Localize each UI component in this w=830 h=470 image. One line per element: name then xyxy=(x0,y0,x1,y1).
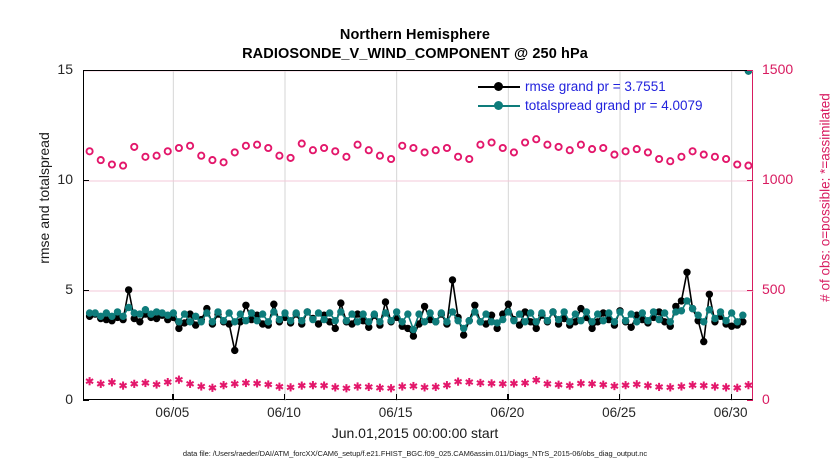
series-marker-totalspread xyxy=(248,310,255,317)
series-marker-totalspread xyxy=(399,318,406,325)
series-marker-totalspread xyxy=(360,311,367,318)
series-marker-totalspread xyxy=(617,309,624,316)
series-marker-totalspread xyxy=(254,317,261,324)
series-marker-totalspread xyxy=(427,310,434,317)
obs-possible-marker xyxy=(321,145,327,151)
legend-marker-rmse-icon xyxy=(478,80,520,94)
y-tick-label-right: 1500 xyxy=(762,61,822,77)
series-marker-totalspread xyxy=(605,310,612,317)
series-marker-rmse xyxy=(628,324,635,331)
obs-assimilated-marker xyxy=(265,380,272,388)
y-tick-mark-right xyxy=(747,70,753,71)
obs-possible-marker xyxy=(578,142,584,148)
series-marker-rmse xyxy=(315,321,322,328)
obs-possible-marker xyxy=(109,161,115,167)
obs-assimilated-marker xyxy=(734,384,741,392)
series-marker-totalspread xyxy=(293,310,300,317)
obs-assimilated-marker xyxy=(667,383,674,391)
y-axis-label-left: rmse and totalspread xyxy=(36,48,52,348)
obs-possible-marker xyxy=(533,136,539,142)
legend-item-totalspread[interactable]: totalspread grand pr = 4.0079 xyxy=(478,98,703,113)
series-marker-totalspread xyxy=(633,318,640,325)
series-marker-totalspread xyxy=(388,317,395,324)
series-marker-totalspread xyxy=(594,311,601,318)
obs-possible-marker xyxy=(745,163,751,169)
obs-possible-marker xyxy=(276,153,282,159)
legend-item-rmse[interactable]: rmse grand pr = 3.7551 xyxy=(478,79,703,94)
obs-possible-marker xyxy=(86,148,92,154)
obs-assimilated-marker xyxy=(455,378,462,386)
obs-assimilated-marker xyxy=(276,383,283,391)
obs-assimilated-marker xyxy=(153,380,160,388)
y-tick-mark-right xyxy=(747,400,753,401)
series-marker-totalspread xyxy=(265,318,272,325)
obs-assimilated-marker xyxy=(410,382,417,390)
obs-assimilated-marker xyxy=(365,383,372,391)
obs-possible-marker xyxy=(678,154,684,160)
obs-assimilated-marker xyxy=(611,382,618,390)
x-tick-mark xyxy=(619,394,620,400)
obs-possible-marker xyxy=(377,153,383,159)
series-marker-totalspread xyxy=(337,309,344,316)
series-marker-totalspread xyxy=(438,310,445,317)
obs-assimilated-marker xyxy=(544,380,551,388)
series-marker-totalspread xyxy=(639,310,646,317)
series-marker-totalspread xyxy=(544,317,551,324)
obs-possible-marker xyxy=(500,145,506,151)
obs-possible-marker xyxy=(511,149,517,155)
obs-possible-marker xyxy=(388,156,394,162)
y-tick-label-left: 0 xyxy=(3,391,73,407)
series-marker-totalspread xyxy=(572,311,579,318)
x-tick-label: 06/20 xyxy=(490,405,524,420)
obs-assimilated-marker xyxy=(354,382,361,390)
series-marker-totalspread xyxy=(170,310,177,317)
obs-assimilated-marker xyxy=(589,380,596,388)
obs-possible-marker xyxy=(611,152,617,158)
series-marker-totalspread xyxy=(734,318,741,325)
series-marker-totalspread xyxy=(310,316,317,323)
obs-assimilated-marker xyxy=(600,381,607,389)
series-marker-rmse xyxy=(684,269,691,276)
obs-assimilated-marker xyxy=(142,379,149,387)
obs-possible-marker xyxy=(600,145,606,151)
x-axis-label: Jun.01,2015 00:00:00 start xyxy=(0,425,830,441)
obs-possible-marker xyxy=(165,148,171,154)
series-marker-totalspread xyxy=(404,311,411,318)
series-marker-totalspread xyxy=(656,316,663,323)
obs-possible-marker xyxy=(656,156,662,162)
obs-assimilated-marker xyxy=(86,377,93,385)
series-marker-totalspread xyxy=(243,317,250,324)
obs-possible-marker xyxy=(198,153,204,159)
obs-assimilated-marker xyxy=(711,382,718,390)
x-tick-mark xyxy=(396,394,397,400)
series-marker-rmse xyxy=(243,302,250,309)
y-tick-mark-left xyxy=(83,290,89,291)
series-marker-totalspread xyxy=(466,317,473,324)
series-marker-totalspread xyxy=(505,309,512,316)
obs-possible-marker xyxy=(332,148,338,154)
obs-assimilated-marker xyxy=(242,379,249,387)
series-marker-totalspread xyxy=(628,311,635,318)
series-marker-totalspread xyxy=(231,318,238,325)
series-marker-totalspread xyxy=(550,309,557,316)
plot-canvas xyxy=(84,71,754,401)
obs-assimilated-marker xyxy=(745,381,752,389)
series-marker-rmse xyxy=(337,300,344,307)
series-marker-totalspread xyxy=(326,310,333,317)
obs-possible-marker xyxy=(734,161,740,167)
series-marker-totalspread xyxy=(237,311,244,318)
obs-assimilated-marker xyxy=(488,379,495,387)
series-marker-totalspread xyxy=(712,315,719,322)
obs-possible-marker xyxy=(176,145,182,151)
series-marker-totalspread xyxy=(432,318,439,325)
series-marker-rmse xyxy=(270,301,277,308)
series-marker-totalspread xyxy=(142,306,149,313)
series-marker-totalspread xyxy=(371,311,378,318)
y-tick-label-right: 1000 xyxy=(762,171,822,187)
obs-assimilated-marker xyxy=(555,381,562,389)
obs-assimilated-marker xyxy=(510,379,517,387)
obs-assimilated-marker xyxy=(298,382,305,390)
series-marker-totalspread xyxy=(282,310,289,317)
series-marker-totalspread xyxy=(667,318,674,325)
series-marker-totalspread xyxy=(661,310,668,317)
obs-possible-marker xyxy=(410,145,416,151)
series-marker-totalspread xyxy=(287,317,294,324)
series-marker-totalspread xyxy=(723,317,730,324)
series-marker-totalspread xyxy=(745,71,752,74)
y-tick-mark-left xyxy=(83,180,89,181)
series-marker-totalspread xyxy=(645,317,652,324)
obs-possible-marker xyxy=(131,144,137,150)
series-marker-rmse xyxy=(136,318,143,325)
obs-possible-marker xyxy=(254,142,260,148)
obs-assimilated-marker xyxy=(533,376,540,384)
obs-possible-marker xyxy=(567,147,573,153)
x-tick-mark xyxy=(172,394,173,400)
legend-label-rmse: rmse grand pr = 3.7551 xyxy=(525,79,666,94)
x-tick-label: 06/30 xyxy=(714,405,748,420)
series-marker-totalspread xyxy=(455,317,462,324)
y-tick-label-right: 0 xyxy=(762,391,822,407)
series-marker-totalspread xyxy=(421,318,428,325)
obs-possible-marker xyxy=(689,148,695,154)
obs-assimilated-marker xyxy=(97,380,104,388)
series-marker-totalspread xyxy=(198,318,205,325)
obs-possible-marker xyxy=(243,143,249,149)
obs-assimilated-marker xyxy=(164,378,171,386)
series-marker-totalspread xyxy=(533,318,540,325)
series-marker-totalspread xyxy=(332,317,339,324)
series-marker-totalspread xyxy=(578,317,585,324)
series-marker-totalspread xyxy=(187,318,194,325)
obs-assimilated-marker xyxy=(209,384,216,392)
series-marker-totalspread xyxy=(499,316,506,323)
series-marker-totalspread xyxy=(192,313,199,320)
obs-possible-marker xyxy=(455,154,461,160)
chart-legend: rmse grand pr = 3.7551 totalspread grand… xyxy=(478,79,703,113)
series-marker-totalspread xyxy=(416,311,423,318)
series-marker-totalspread xyxy=(109,313,116,320)
series-marker-totalspread xyxy=(678,307,685,314)
obs-assimilated-marker xyxy=(309,381,316,389)
series-marker-rmse xyxy=(410,333,417,340)
series-marker-totalspread xyxy=(483,311,490,318)
series-marker-rmse xyxy=(471,302,478,309)
x-tick-label: 06/15 xyxy=(379,405,413,420)
obs-assimilated-marker xyxy=(499,380,506,388)
obs-possible-marker xyxy=(701,152,707,158)
series-marker-totalspread xyxy=(176,318,183,325)
x-tick-label: 06/05 xyxy=(155,405,189,420)
obs-possible-marker xyxy=(555,144,561,150)
x-tick-mark xyxy=(731,394,732,400)
x-tick-mark xyxy=(507,394,508,400)
obs-assimilated-marker xyxy=(443,381,450,389)
obs-possible-marker xyxy=(120,163,126,169)
obs-possible-marker xyxy=(645,149,651,155)
series-marker-totalspread xyxy=(449,309,456,316)
obs-assimilated-marker xyxy=(421,383,428,391)
obs-possible-marker xyxy=(287,155,293,161)
obs-assimilated-marker xyxy=(175,376,182,384)
obs-assimilated-marker xyxy=(432,383,439,391)
series-marker-totalspread xyxy=(739,312,746,319)
series-marker-rmse xyxy=(706,291,713,298)
obs-possible-marker xyxy=(209,157,215,163)
obs-possible-marker xyxy=(444,145,450,151)
chart-subtitle: RADIOSONDE_V_WIND_COMPONENT @ 250 hPa xyxy=(0,45,830,64)
series-marker-totalspread xyxy=(114,309,121,316)
obs-possible-marker xyxy=(589,146,595,152)
obs-assimilated-marker xyxy=(254,379,261,387)
obs-assimilated-marker xyxy=(678,382,685,390)
obs-assimilated-marker xyxy=(466,378,473,386)
series-marker-totalspread xyxy=(136,311,143,318)
y-tick-mark-right xyxy=(747,290,753,291)
series-marker-totalspread xyxy=(566,318,573,325)
obs-possible-marker xyxy=(98,157,104,163)
obs-assimilated-marker xyxy=(187,380,194,388)
series-marker-totalspread xyxy=(410,326,417,333)
series-marker-totalspread xyxy=(477,318,484,325)
obs-possible-marker xyxy=(433,147,439,153)
y-axis-label-right: # of obs: o=possible; *=assimilated xyxy=(818,33,830,363)
series-marker-totalspread xyxy=(717,309,724,316)
obs-possible-marker xyxy=(622,148,628,154)
series-marker-totalspread xyxy=(382,310,389,317)
obs-assimilated-marker xyxy=(220,381,227,389)
series-marker-totalspread xyxy=(215,309,222,316)
obs-assimilated-marker xyxy=(198,382,205,390)
series-marker-totalspread xyxy=(220,317,227,324)
series-marker-totalspread xyxy=(120,313,127,320)
y-tick-mark-left xyxy=(83,70,89,71)
series-marker-totalspread xyxy=(259,311,266,318)
series-marker-rmse xyxy=(460,332,467,339)
obs-possible-marker xyxy=(153,153,159,159)
series-marker-totalspread xyxy=(511,317,518,324)
series-marker-totalspread xyxy=(125,304,132,311)
series-marker-totalspread xyxy=(689,305,696,312)
series-marker-totalspread xyxy=(611,318,618,325)
series-marker-totalspread xyxy=(354,318,361,325)
series-marker-totalspread xyxy=(181,311,188,318)
series-marker-totalspread xyxy=(226,310,233,317)
series-marker-totalspread xyxy=(600,317,607,324)
series-marker-totalspread xyxy=(527,310,534,317)
series-marker-totalspread xyxy=(516,311,523,318)
obs-assimilated-marker xyxy=(622,381,629,389)
x-tick-label: 06/10 xyxy=(267,405,301,420)
series-marker-totalspread xyxy=(561,309,568,316)
obs-possible-marker xyxy=(488,139,494,145)
x-tick-label: 06/25 xyxy=(602,405,636,420)
series-marker-rmse xyxy=(332,325,339,332)
series-marker-rmse xyxy=(125,287,132,294)
series-marker-totalspread xyxy=(377,318,384,325)
obs-possible-marker xyxy=(310,147,316,153)
obs-assimilated-marker xyxy=(376,384,383,392)
series-marker-totalspread xyxy=(522,318,529,325)
series-marker-rmse xyxy=(421,303,428,310)
obs-assimilated-marker xyxy=(723,383,730,391)
obs-possible-marker xyxy=(667,158,673,164)
series-marker-rmse xyxy=(589,325,596,332)
obs-assimilated-marker xyxy=(343,384,350,392)
series-marker-totalspread xyxy=(270,309,277,316)
obs-assimilated-marker xyxy=(577,379,584,387)
obs-assimilated-marker xyxy=(689,381,696,389)
series-marker-totalspread xyxy=(700,318,707,325)
obs-possible-marker xyxy=(142,154,148,160)
series-marker-totalspread xyxy=(365,318,372,325)
data-file-caption: data file: /Users/raeder/DAI/ATM_forcXX/… xyxy=(0,449,830,458)
series-marker-totalspread xyxy=(298,317,305,324)
obs-possible-marker xyxy=(366,147,372,153)
series-marker-totalspread xyxy=(304,309,311,316)
series-marker-totalspread xyxy=(460,325,467,332)
obs-possible-marker xyxy=(343,154,349,160)
series-marker-totalspread xyxy=(650,309,657,316)
obs-possible-marker xyxy=(634,146,640,152)
series-marker-totalspread xyxy=(209,318,216,325)
obs-assimilated-marker xyxy=(108,378,115,386)
series-marker-totalspread xyxy=(728,310,735,317)
legend-marker-totalspread-icon xyxy=(478,99,520,113)
legend-label-totalspread: totalspread grand pr = 4.0079 xyxy=(525,98,703,113)
series-marker-totalspread xyxy=(203,310,210,317)
obs-possible-marker xyxy=(522,139,528,145)
series-marker-rmse xyxy=(700,338,707,345)
obs-possible-marker xyxy=(299,141,305,147)
obs-assimilated-marker xyxy=(566,382,573,390)
obs-assimilated-marker xyxy=(120,382,127,390)
y-tick-label-right: 500 xyxy=(762,281,822,297)
obs-assimilated-marker xyxy=(231,380,238,388)
series-marker-totalspread xyxy=(538,310,545,317)
series-marker-totalspread xyxy=(343,317,350,324)
series-marker-totalspread xyxy=(444,318,451,325)
series-marker-rmse xyxy=(231,347,238,354)
series-marker-totalspread xyxy=(315,310,322,317)
obs-possible-marker xyxy=(477,142,483,148)
obs-possible-marker xyxy=(421,149,427,155)
obs-assimilated-marker xyxy=(656,383,663,391)
series-marker-rmse xyxy=(382,299,389,306)
series-marker-totalspread xyxy=(349,311,356,318)
series-marker-rmse xyxy=(505,301,512,308)
obs-possible-marker xyxy=(232,149,238,155)
series-marker-totalspread xyxy=(583,309,590,316)
plot-area xyxy=(83,70,753,400)
obs-assimilated-marker xyxy=(321,382,328,390)
series-marker-totalspread xyxy=(706,306,713,313)
obs-assimilated-marker xyxy=(644,382,651,390)
series-marker-totalspread xyxy=(622,317,629,324)
series-marker-totalspread xyxy=(589,318,596,325)
y-tick-mark-right xyxy=(747,180,753,181)
obs-assimilated-marker xyxy=(332,383,339,391)
obs-possible-marker xyxy=(544,142,550,148)
obs-possible-marker xyxy=(399,143,405,149)
series-marker-rmse xyxy=(176,325,183,332)
obs-assimilated-marker xyxy=(399,382,406,390)
obs-assimilated-marker xyxy=(522,379,529,387)
obs-possible-marker xyxy=(187,143,193,149)
series-marker-totalspread xyxy=(393,309,400,316)
series-marker-totalspread xyxy=(555,316,562,323)
obs-possible-marker xyxy=(723,156,729,162)
x-tick-mark xyxy=(284,394,285,400)
series-marker-totalspread xyxy=(695,312,702,319)
obs-assimilated-marker xyxy=(633,380,640,388)
obs-possible-marker xyxy=(712,154,718,160)
obs-possible-marker xyxy=(265,145,271,151)
obs-assimilated-marker xyxy=(287,383,294,391)
series-marker-totalspread xyxy=(276,316,283,323)
page-title: Northern Hemisphere xyxy=(0,26,830,45)
series-marker-rmse xyxy=(449,277,456,284)
obs-assimilated-marker xyxy=(131,380,138,388)
obs-assimilated-marker xyxy=(477,379,484,387)
chart-title-block: Northern Hemisphere RADIOSONDE_V_WIND_CO… xyxy=(0,26,830,63)
series-marker-totalspread xyxy=(471,309,478,316)
obs-possible-marker xyxy=(466,156,472,162)
series-marker-totalspread xyxy=(684,298,691,305)
obs-assimilated-marker xyxy=(388,384,395,392)
obs-assimilated-marker xyxy=(700,382,707,390)
chart-figure: Northern Hemisphere RADIOSONDE_V_WIND_CO… xyxy=(0,0,830,470)
y-tick-mark-left xyxy=(83,400,89,401)
obs-possible-marker xyxy=(354,142,360,148)
series-marker-rmse xyxy=(533,325,540,332)
series-marker-totalspread xyxy=(321,316,328,323)
obs-possible-marker xyxy=(220,159,226,165)
